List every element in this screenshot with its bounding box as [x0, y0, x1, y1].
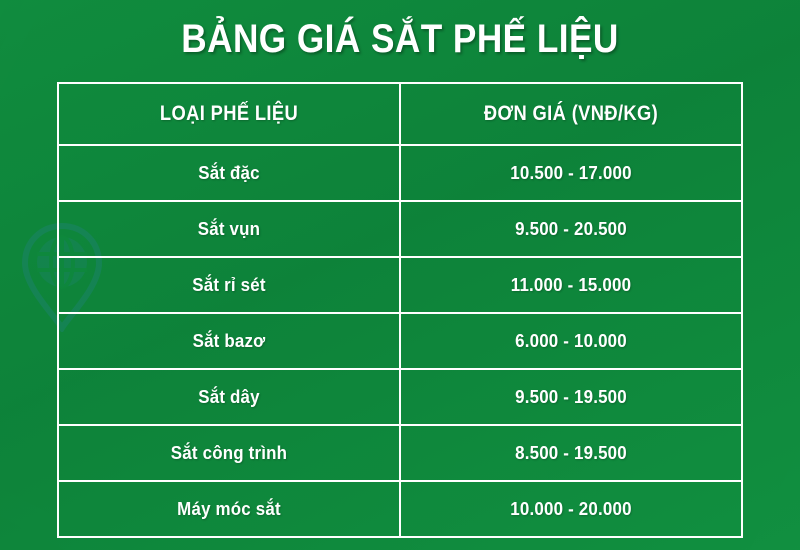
- table-row: Máy móc sắt 10.000 - 20.000: [58, 481, 742, 537]
- scrap-type-value: Sắt dây: [69, 387, 389, 408]
- unit-price-value: 11.000 - 15.000: [411, 275, 731, 296]
- table-row: Sắt vụn 9.500 - 20.500: [58, 201, 742, 257]
- table-row: Sắt đặc 10.500 - 17.000: [58, 145, 742, 201]
- cell-scrap-type: Sắt đặc: [58, 145, 400, 201]
- column-header-scrap-type: LOẠI PHẾ LIỆU: [70, 83, 388, 145]
- unit-price-value: 8.500 - 19.500: [411, 443, 731, 464]
- scrap-type-value: Sắt vụn: [69, 219, 389, 240]
- unit-price-value: 9.500 - 19.500: [411, 387, 731, 408]
- table-row: Sắt công trình 8.500 - 19.500: [58, 425, 742, 481]
- price-table: LOẠI PHẾ LIỆU ĐƠN GIÁ (VNĐ/KG) Sắt đặc 1…: [57, 82, 743, 538]
- cell-unit-price: 8.500 - 19.500: [400, 425, 742, 481]
- scrap-type-value: Sắt bazơ: [69, 331, 389, 352]
- column-header-unit-price-label: ĐƠN GIÁ (VNĐ/KG): [422, 102, 719, 126]
- scrap-type-value: Máy móc sắt: [69, 499, 389, 520]
- cell-scrap-type: Sắt vụn: [58, 201, 400, 257]
- unit-price-value: 6.000 - 10.000: [411, 331, 731, 352]
- cell-scrap-type: Máy móc sắt: [58, 481, 400, 537]
- unit-price-value: 10.500 - 17.000: [411, 163, 731, 184]
- table-row: Sắt dây 9.500 - 19.500: [58, 369, 742, 425]
- table-row: Sắt rỉ sét 11.000 - 15.000: [58, 257, 742, 313]
- scrap-type-value: Sắt công trình: [69, 443, 389, 464]
- cell-unit-price: 10.000 - 20.000: [400, 481, 742, 537]
- unit-price-value: 9.500 - 20.500: [411, 219, 731, 240]
- table-header-row: LOẠI PHẾ LIỆU ĐƠN GIÁ (VNĐ/KG): [58, 83, 742, 145]
- table-row: Sắt bazơ 6.000 - 10.000: [58, 313, 742, 369]
- cell-scrap-type: Sắt rỉ sét: [58, 257, 400, 313]
- cell-scrap-type: Sắt bazơ: [58, 313, 400, 369]
- cell-scrap-type: Sắt công trình: [58, 425, 400, 481]
- cell-scrap-type: Sắt dây: [58, 369, 400, 425]
- scrap-type-value: Sắt đặc: [69, 163, 389, 184]
- cell-unit-price: 11.000 - 15.000: [400, 257, 742, 313]
- scrap-type-value: Sắt rỉ sét: [69, 275, 389, 296]
- cell-unit-price: 9.500 - 20.500: [400, 201, 742, 257]
- scrap-iron-price-poster: BẢNG GIÁ SẮT PHẾ LIỆU LOẠI PHẾ LIỆU ĐƠN …: [0, 0, 800, 550]
- page-title: BẢNG GIÁ SẮT PHẾ LIỆU: [48, 16, 752, 62]
- cell-unit-price: 10.500 - 17.000: [400, 145, 742, 201]
- column-header-unit-price: ĐƠN GIÁ (VNĐ/KG): [412, 83, 730, 145]
- cell-unit-price: 6.000 - 10.000: [400, 313, 742, 369]
- column-header-scrap-type-label: LOẠI PHẾ LIỆU: [80, 102, 377, 126]
- unit-price-value: 10.000 - 20.000: [411, 499, 731, 520]
- cell-unit-price: 9.500 - 19.500: [400, 369, 742, 425]
